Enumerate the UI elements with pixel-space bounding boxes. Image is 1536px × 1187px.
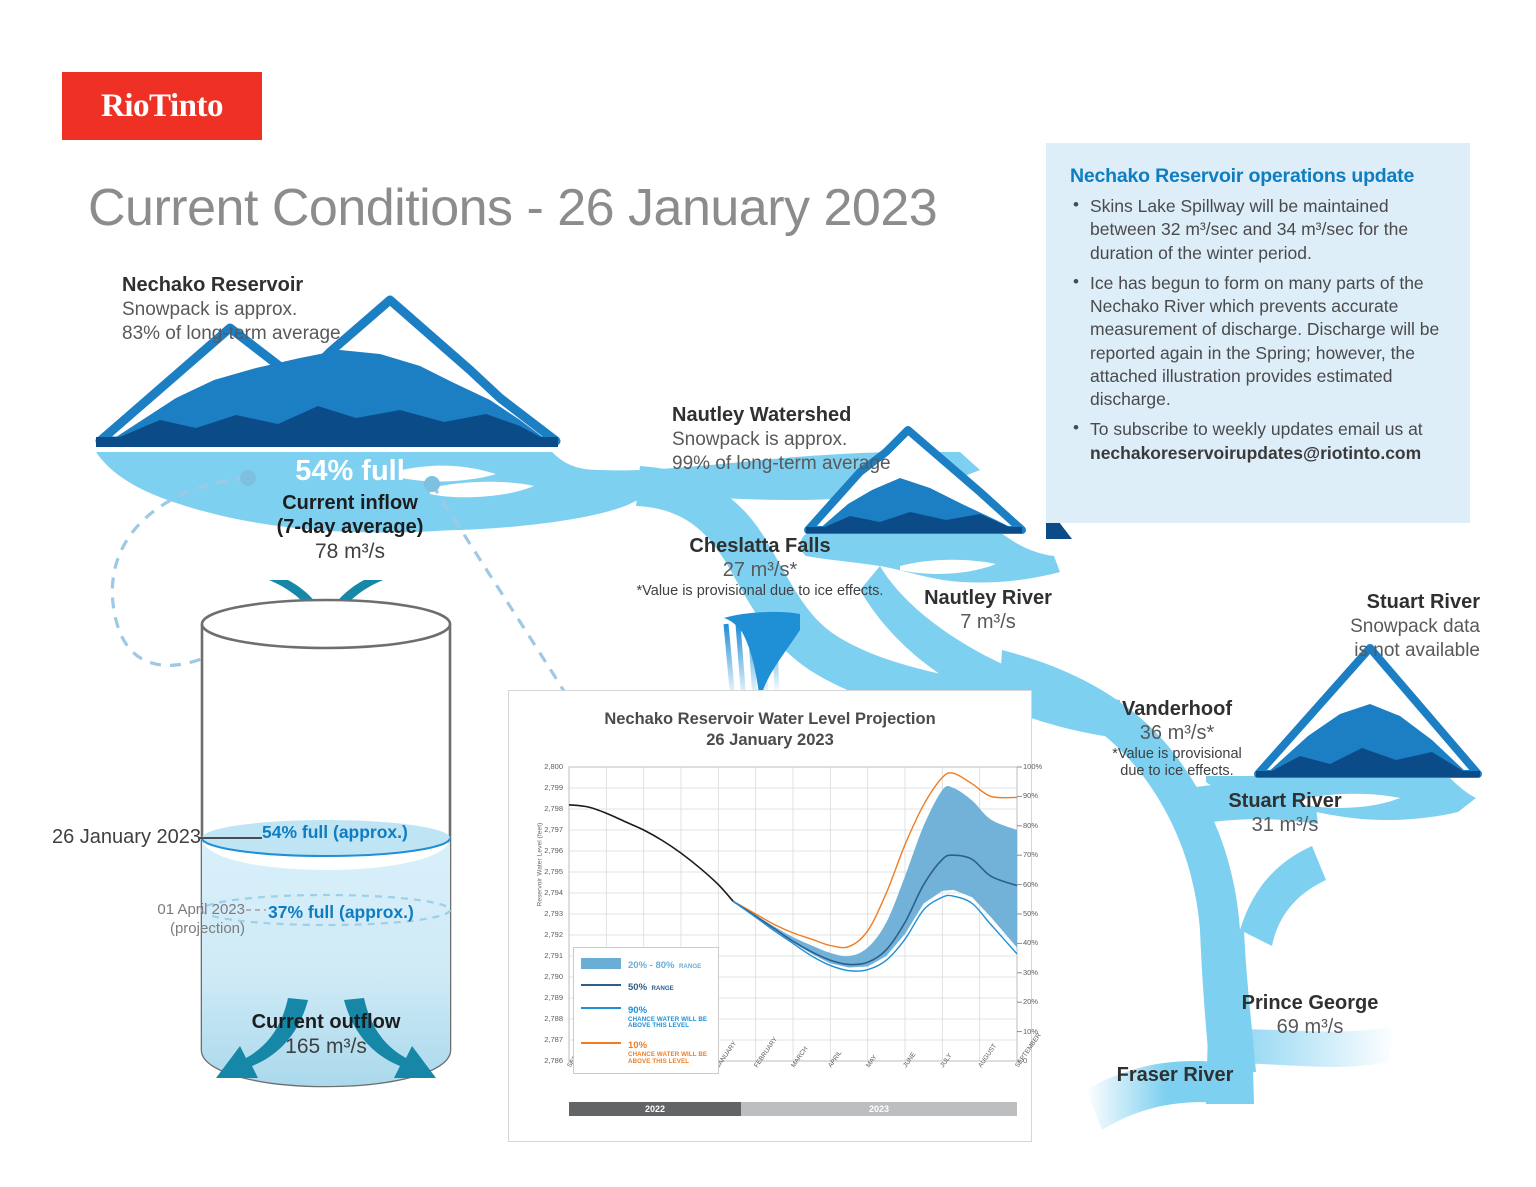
chart-y-tick: 2,787 <box>529 1035 563 1044</box>
legend-item-p90: 90% CHANCE WATER WILL BE ABOVE THIS LEVE… <box>581 1000 712 1031</box>
cylinder-date-current: 26 January 2023 <box>52 826 201 849</box>
inflow-value: 78 m³/s <box>200 539 500 564</box>
prince-george-value: 69 m³/s <box>1190 1015 1430 1039</box>
stuart-river-value: 31 m³/s <box>1180 813 1390 837</box>
chart-y-tick: 2,798 <box>529 804 563 813</box>
label-stuart-river-flow: Stuart River 31 m³/s <box>1180 789 1390 838</box>
infographic-root: RioTinto Current Conditions - 26 January… <box>0 0 1536 1187</box>
ops-bullet-ice: Ice has begun to form on many parts of t… <box>1070 272 1446 412</box>
legend-sub-p10: CHANCE WATER WILL BE ABOVE THIS LEVEL <box>628 1052 712 1065</box>
chart-y-tick: 2,797 <box>529 825 563 834</box>
chart-y-tick: 2,799 <box>529 783 563 792</box>
vanderhoof-value: 36 m³/s* <box>1062 721 1292 745</box>
chart-title-line2: 26 January 2023 <box>509 730 1031 751</box>
chart-title: Nechako Reservoir Water Level Projection… <box>509 709 1031 752</box>
nechako-line1: Snowpack is approx. <box>122 298 341 322</box>
label-nautley-river: Nautley River 7 m³/s <box>888 586 1088 635</box>
prince-george-title: Prince George <box>1190 991 1430 1015</box>
fraser-river-title: Fraser River <box>1060 1063 1290 1087</box>
cylinder-level-current-label: 54% full (approx.) <box>262 822 408 843</box>
ops-bullet-subscribe-text: To subscribe to weekly updates email us … <box>1090 419 1423 439</box>
chart-y2-tick: 30% <box>1023 968 1057 977</box>
chart-y-tick: 2,788 <box>529 1014 563 1023</box>
legend-swatch-p50 <box>581 977 621 986</box>
cylinder-date-projection: 01 April 2023 (projection) <box>100 901 245 939</box>
chart-y2-tick: 50% <box>1023 909 1057 918</box>
nautley-line2: 99% of long-term average <box>672 452 891 476</box>
nautley-title: Nautley Watershed <box>672 403 891 428</box>
ops-bullet-spillway: Skins Lake Spillway will be maintained b… <box>1070 195 1446 265</box>
nautley-river-title: Nautley River <box>888 586 1088 610</box>
chart-y-tick: 2,792 <box>529 930 563 939</box>
cylinder-level-projected-label: 37% full (approx.) <box>268 902 414 923</box>
chart-y-tick: 2,789 <box>529 993 563 1002</box>
year-band-2023: 2023 <box>741 1102 1017 1116</box>
projection-date-line2: (projection) <box>100 920 245 939</box>
stuart-mt-title: Stuart River <box>1310 590 1480 615</box>
chart-y2-tick: 100% <box>1023 762 1057 771</box>
legend-item-p10: 10% CHANCE WATER WILL BE ABOVE THIS LEVE… <box>581 1035 712 1066</box>
rio-tinto-logo: RioTinto <box>62 72 262 140</box>
legend-sub-p90: CHANCE WATER WILL BE ABOVE THIS LEVEL <box>628 1017 712 1030</box>
chart-y-tick: 2,791 <box>529 951 563 960</box>
legend-swatch-band <box>581 955 621 969</box>
inflow-title: Current inflow <box>200 491 500 515</box>
label-prince-george: Prince George 69 m³/s <box>1190 991 1430 1040</box>
stuart-river-title: Stuart River <box>1180 789 1390 813</box>
legend-label-p10: 10% <box>628 1040 647 1051</box>
chart-y-tick: 2,795 <box>529 867 563 876</box>
legend-label-band: 20% - 80% <box>628 960 674 971</box>
legend-swatch-p90 <box>581 1000 621 1009</box>
chart-y2-tick: 90% <box>1023 791 1057 800</box>
operations-update-panel: Nechako Reservoir operations update Skin… <box>1046 143 1470 523</box>
chart-y-tick: 2,793 <box>529 909 563 918</box>
logo-wordmark: RioTinto <box>101 88 223 125</box>
current-inflow-block: Current inflow (7-day average) 78 m³/s <box>200 491 500 564</box>
cheslatta-title: Cheslatta Falls <box>620 534 900 558</box>
cheslatta-note: *Value is provisional due to ice effects… <box>620 583 900 601</box>
label-fraser-river: Fraser River <box>1060 1063 1290 1087</box>
chart-y-tick: 2,790 <box>529 972 563 981</box>
chart-y2-tick: 0 <box>1023 1056 1057 1065</box>
label-nautley-watershed-snowpack: Nautley Watershed Snowpack is approx. 99… <box>672 403 891 476</box>
reservoir-percent-full-headline: 54% full <box>200 455 500 488</box>
legend-suffix-p50: RANGE <box>651 985 673 992</box>
outflow-title: Current outflow <box>196 1010 456 1034</box>
ops-email-link[interactable]: nechakoreservoirupdates@riotinto.com <box>1090 443 1421 463</box>
chart-y2-tick: 20% <box>1023 997 1057 1006</box>
chart-plot-area: 2,8002,7992,7982,7972,7962,7952,7942,793… <box>509 759 1033 1099</box>
chart-year-bar: 2022 2023 <box>569 1102 1017 1116</box>
inflow-sub: (7-day average) <box>200 515 500 539</box>
chart-y-tick: 2,796 <box>529 846 563 855</box>
nechako-line2: 83% of long-term average <box>122 322 341 346</box>
ops-panel-heading: Nechako Reservoir operations update <box>1070 165 1446 188</box>
current-outflow-block: Current outflow 165 m³/s <box>196 1010 456 1060</box>
ops-panel-bullets: Skins Lake Spillway will be maintained b… <box>1070 195 1446 465</box>
chart-y-tick: 2,800 <box>529 762 563 771</box>
water-level-projection-chart: Nechako Reservoir Water Level Projection… <box>508 690 1032 1142</box>
label-stuart-river-snowpack: Stuart River Snowpack data is not availa… <box>1310 590 1480 663</box>
year-band-2022: 2022 <box>569 1102 741 1116</box>
legend-label-p90: 90% <box>628 1005 647 1016</box>
cheslatta-value: 27 m³/s* <box>620 558 900 582</box>
vanderhoof-title: Vanderhoof <box>1062 697 1292 721</box>
vanderhoof-note2: due to ice effects. <box>1062 763 1292 781</box>
ops-bullet-subscribe: To subscribe to weekly updates email us … <box>1070 418 1446 465</box>
stuart-mt-line1: Snowpack data <box>1310 615 1480 639</box>
legend-swatch-p10 <box>581 1035 621 1044</box>
label-cheslatta-falls: Cheslatta Falls 27 m³/s* *Value is provi… <box>620 534 900 600</box>
legend-label-p50: 50% <box>628 982 647 993</box>
chart-title-line1: Nechako Reservoir Water Level Projection <box>509 709 1031 730</box>
label-vanderhoof: Vanderhoof 36 m³/s* *Value is provisiona… <box>1062 697 1292 781</box>
vanderhoof-note1: *Value is provisional <box>1062 746 1292 764</box>
stuart-mt-line2: is not available <box>1310 639 1480 663</box>
nautley-line1: Snowpack is approx. <box>672 428 891 452</box>
cheslatta-falls-icon <box>724 612 800 702</box>
legend-item-range-50: 50% RANGE <box>581 977 712 994</box>
chart-y-tick: 2,786 <box>529 1056 563 1065</box>
projection-date-line1: 01 April 2023 <box>100 901 245 920</box>
legend-item-range-20-80: 20% - 80% RANGE <box>581 955 712 972</box>
nautley-river-value: 7 m³/s <box>888 610 1088 634</box>
chart-y2-tick: 40% <box>1023 938 1057 947</box>
chart-legend: 20% - 80% RANGE 50% RANGE 90% CHANCE W <box>573 947 719 1074</box>
nechako-title: Nechako Reservoir <box>122 273 341 298</box>
outflow-value: 165 m³/s <box>196 1034 456 1060</box>
chart-y2-tick: 60% <box>1023 880 1057 889</box>
legend-suffix-band: RANGE <box>679 963 701 970</box>
label-nechako-reservoir-snowpack: Nechako Reservoir Snowpack is approx. 83… <box>122 273 341 346</box>
chart-y2-tick: 80% <box>1023 821 1057 830</box>
page-title: Current Conditions - 26 January 2023 <box>88 178 937 238</box>
chart-y-tick: 2,794 <box>529 888 563 897</box>
chart-y2-tick: 70% <box>1023 850 1057 859</box>
